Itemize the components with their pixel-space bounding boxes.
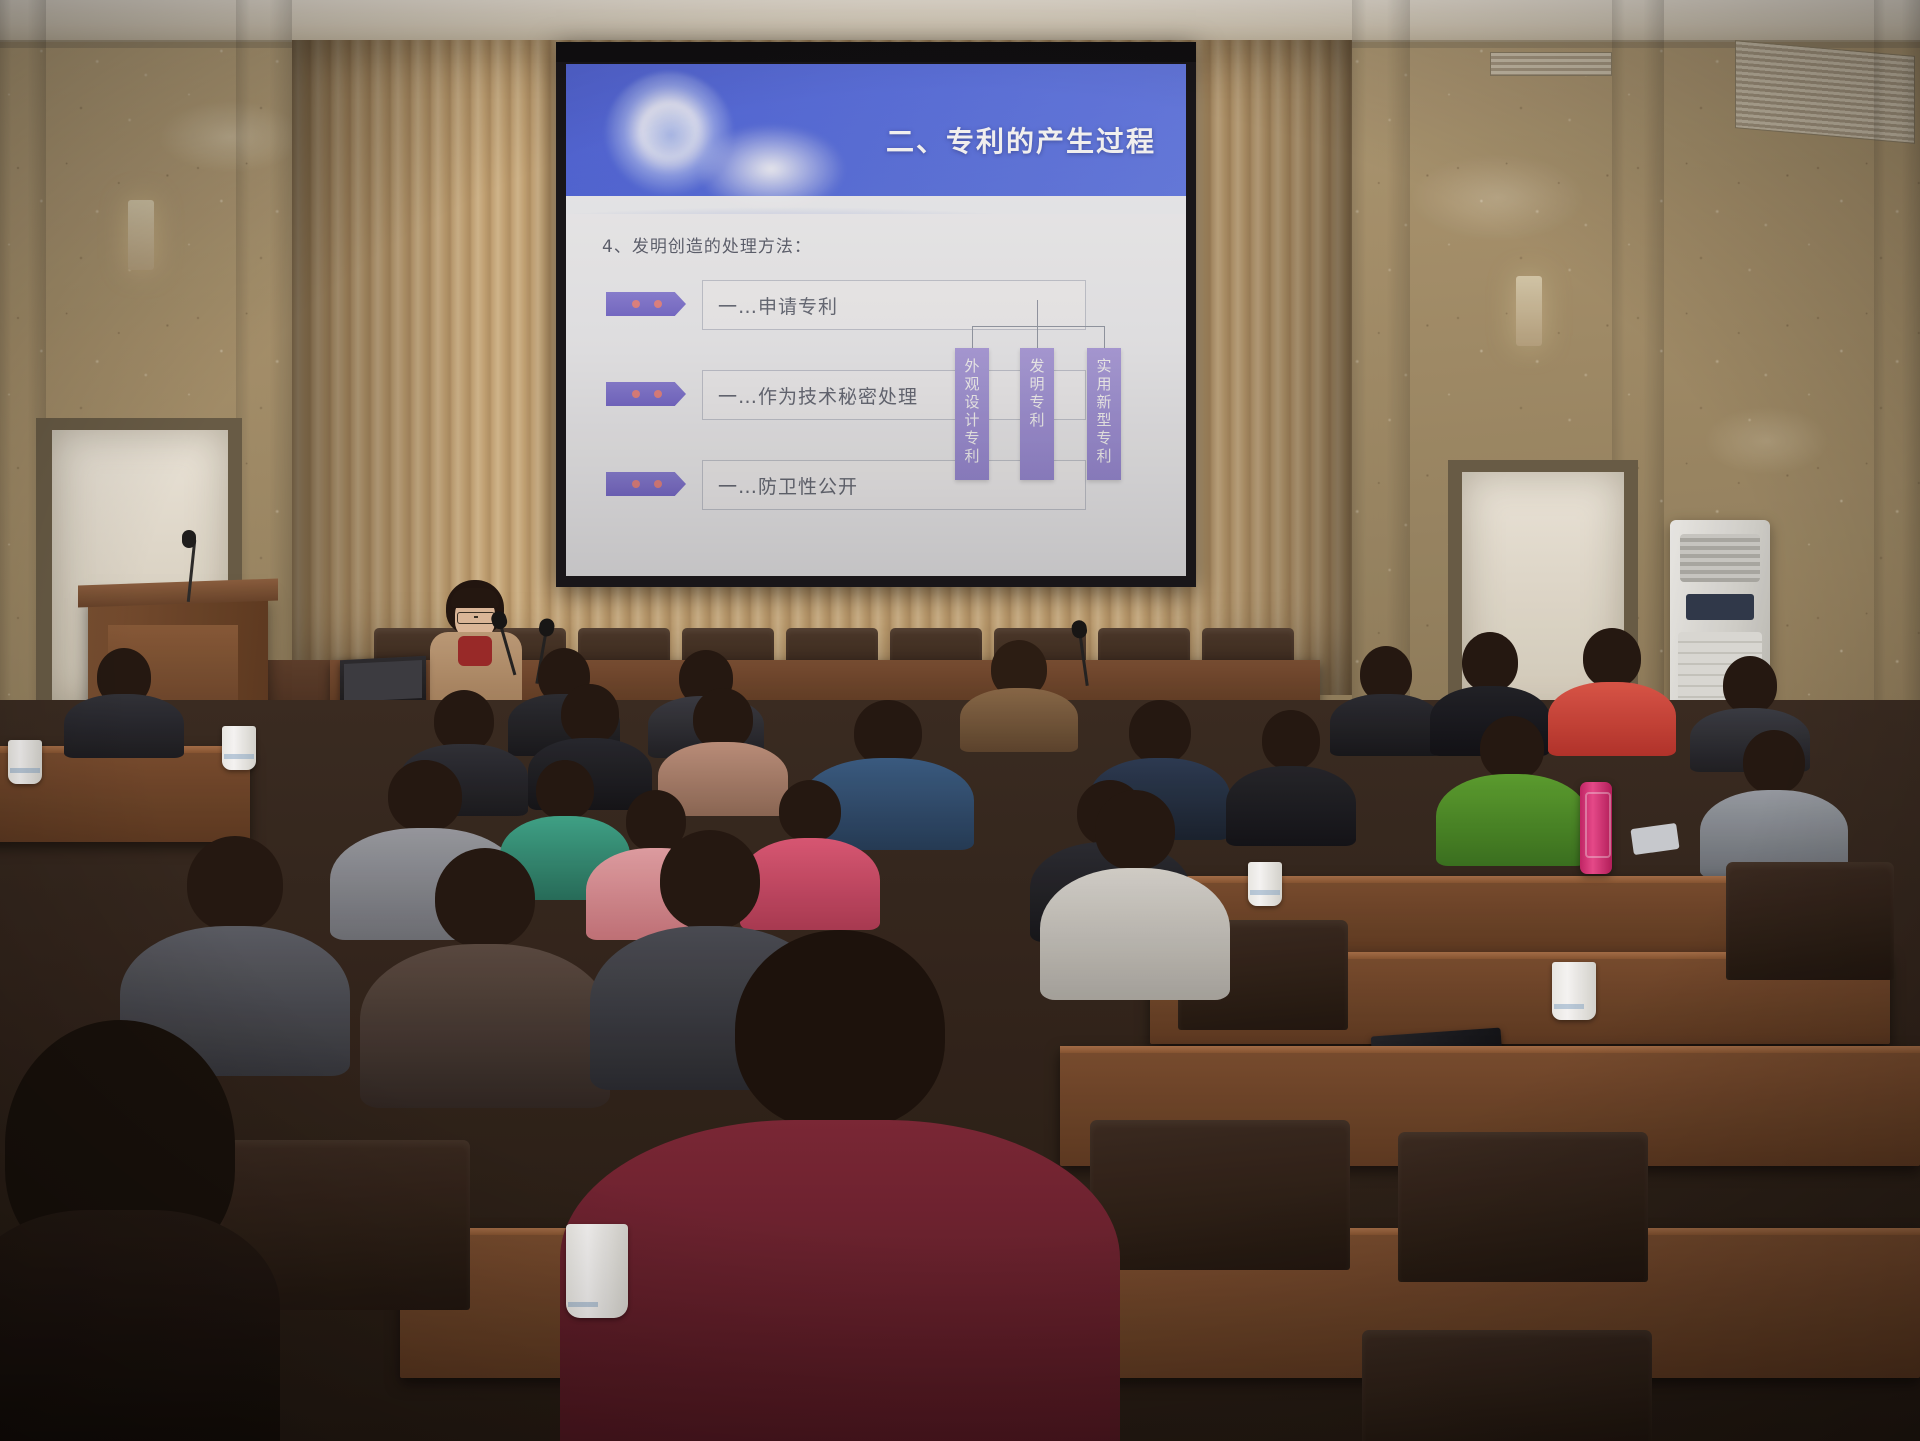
connector-crossbar xyxy=(972,326,1104,327)
person-head xyxy=(1129,700,1191,764)
row-arrow-3 xyxy=(606,472,686,496)
row-label-2: 一…作为技术秘密处理 xyxy=(718,382,918,409)
slide-row-3: 一…防卫性公开 xyxy=(606,466,1086,504)
wall-sconce-left xyxy=(128,200,154,270)
row-arrow-1 xyxy=(606,292,686,316)
paper-cup-left-1 xyxy=(8,740,42,784)
patent-type-bar-invention: 发明专利 xyxy=(1020,348,1054,480)
pink-water-bottle xyxy=(1580,782,1612,874)
person-head xyxy=(1743,730,1805,794)
person-head xyxy=(388,760,462,832)
person-head xyxy=(1462,632,1518,692)
person-shoulders xyxy=(560,1120,1120,1441)
wall-pilaster-3 xyxy=(1352,0,1410,700)
presenter-scarf xyxy=(458,636,492,666)
patent-type-label-design: 外观设计专利 xyxy=(962,358,983,466)
projection-screen: 二、专利的产生过程 4、发明创造的处理方法： 一…申请专利 一…作为技术秘密处理 xyxy=(556,42,1196,587)
conference-room-photo: 二、专利的产生过程 4、发明创造的处理方法： 一…申请专利 一…作为技术秘密处理 xyxy=(0,0,1920,1441)
paper-cup-r2-1 xyxy=(1248,862,1282,906)
connector-leg-3 xyxy=(1104,326,1105,348)
person-head xyxy=(1095,790,1175,870)
presenter-glasses xyxy=(457,612,495,624)
person-head xyxy=(660,830,760,930)
person-head xyxy=(1262,710,1320,770)
slide-subheading: 4、发明创造的处理方法： xyxy=(602,232,812,257)
patent-type-label-invention: 发明专利 xyxy=(1027,358,1048,430)
ac-display-panel[interactable] xyxy=(1686,594,1754,620)
slide-title: 二、专利的产生过程 xyxy=(886,120,1156,160)
audience-chair-r3-2[interactable] xyxy=(1726,862,1894,980)
podium-mic-head xyxy=(182,530,196,548)
row-label-3: 一…防卫性公开 xyxy=(718,472,858,499)
audience-person-foreground-maroon xyxy=(560,930,1120,1441)
screen-surface: 二、专利的产生过程 4、发明创造的处理方法： 一…申请专利 一…作为技术秘密处理 xyxy=(566,64,1186,576)
person-shoulders xyxy=(0,1210,280,1441)
foreground-chair-4[interactable] xyxy=(1362,1330,1652,1441)
person-head xyxy=(735,930,945,1130)
person-shoulders xyxy=(1436,774,1588,866)
foreground-chair-2[interactable] xyxy=(1090,1120,1350,1270)
patent-type-label-utility: 实用新型专利 xyxy=(1094,358,1115,466)
patent-type-bar-utility: 实用新型专利 xyxy=(1087,348,1121,480)
row-arrow-2 xyxy=(606,382,686,406)
screen-housing xyxy=(556,42,1196,62)
audience-person-b6 xyxy=(1226,710,1356,846)
presenter-fringe xyxy=(451,588,499,608)
audience-person-a3 xyxy=(960,640,1078,752)
paper-cup-left-2 xyxy=(222,726,256,770)
patent-type-bar-design: 外观设计专利 xyxy=(955,348,989,480)
person-head xyxy=(693,688,753,750)
ceiling-vent-left xyxy=(1490,52,1612,76)
audience-person-b7-green xyxy=(1436,716,1588,866)
slide-row-2: 一…作为技术秘密处理 xyxy=(606,376,1086,414)
wall-sconce-right xyxy=(1516,276,1542,346)
foreground-chair-3[interactable] xyxy=(1398,1132,1648,1282)
connector-stem xyxy=(1037,300,1038,326)
person-head xyxy=(1723,656,1777,714)
person-head xyxy=(1480,716,1544,780)
ac-grill xyxy=(1680,534,1760,582)
paper-cup-r3-1 xyxy=(1552,962,1596,1020)
person-head xyxy=(187,836,283,932)
row-label-1: 一…申请专利 xyxy=(718,292,838,319)
paper-cup-foreground xyxy=(566,1224,628,1318)
person-head xyxy=(854,700,922,766)
person-shoulders xyxy=(960,688,1078,752)
person-shoulders xyxy=(64,694,184,758)
person-shoulders xyxy=(1226,766,1356,846)
powerpoint-slide: 二、专利的产生过程 4、发明创造的处理方法： 一…申请专利 一…作为技术秘密处理 xyxy=(566,64,1186,576)
audience-person-left-aisle xyxy=(64,648,184,758)
person-head xyxy=(1583,628,1641,688)
person-head xyxy=(434,690,494,752)
connector-leg-1 xyxy=(972,326,973,348)
audience-person-b8 xyxy=(1700,730,1848,878)
person-head xyxy=(435,848,535,948)
connector-leg-2 xyxy=(1037,326,1038,348)
person-head xyxy=(561,684,619,744)
audience-person-foreground-left xyxy=(0,1020,280,1441)
patent-type-connector xyxy=(958,300,1118,340)
wall-pilaster-5 xyxy=(1874,0,1920,700)
